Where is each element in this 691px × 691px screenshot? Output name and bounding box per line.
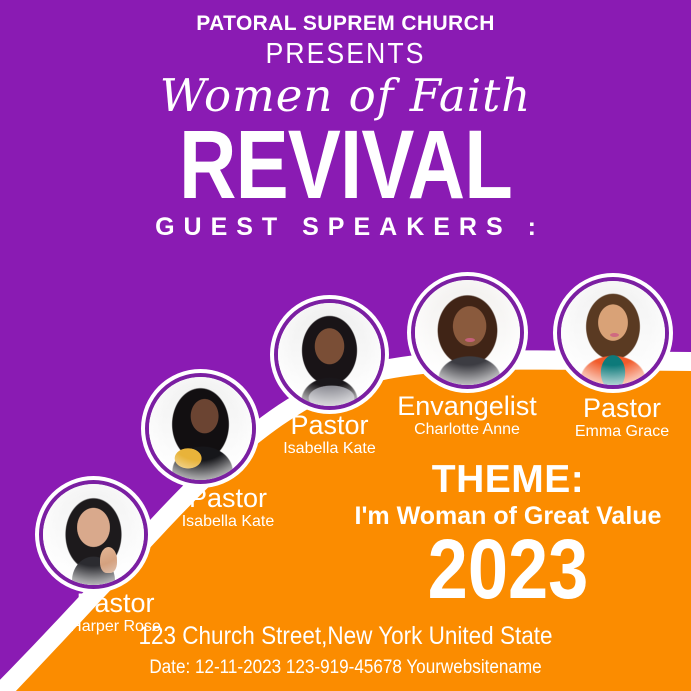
- speaker-name: Isabella Kate: [133, 513, 323, 531]
- theme-block: THEME: I'm Woman of Great Value 2023: [330, 460, 686, 613]
- avatar-charlotte-anne[interactable]: [411, 276, 524, 389]
- avatar-emma-grace[interactable]: [557, 277, 669, 389]
- caption-charlotte-anne: Envangelist Charlotte Anne: [388, 393, 546, 439]
- speaker-role: Envangelist: [388, 393, 546, 421]
- theme-label: THEME:: [330, 460, 686, 499]
- avatar-vignette: [559, 279, 667, 387]
- avatar-vignette: [413, 278, 522, 387]
- caption-isabella-kate-b: Pastor Isabella Kate: [262, 412, 397, 458]
- avatar-isabella-kate-a[interactable]: [145, 373, 256, 484]
- avatar-harper-rose[interactable]: [39, 480, 148, 589]
- avatar-vignette: [41, 482, 146, 587]
- speaker-role: Pastor: [262, 412, 397, 440]
- caption-isabella-kate-a: Pastor Isabella Kate: [133, 485, 323, 531]
- avatar-isabella-kate-b[interactable]: [274, 299, 385, 410]
- event-year: 2023: [355, 527, 661, 613]
- speaker-name: Isabella Kate: [262, 440, 397, 458]
- avatar-vignette: [276, 301, 383, 408]
- speaker-name: Charlotte Anne: [388, 421, 546, 439]
- speaker-role: Pastor: [133, 485, 323, 513]
- footer-block: 123 Church Street,New York United State …: [0, 624, 691, 677]
- event-meta: Date: 12-11-2023 123-919-45678 Yourwebsi…: [35, 658, 657, 677]
- venue-address: 123 Church Street,New York United State: [35, 624, 657, 649]
- avatar-vignette: [147, 375, 254, 482]
- event-flyer: PATORAL SUPREM CHURCH PRESENTS Women of …: [0, 0, 691, 691]
- speaker-name: Emma Grace: [548, 423, 691, 441]
- speaker-role: Pastor: [28, 590, 203, 618]
- caption-emma-grace: Pastor Emma Grace: [548, 395, 691, 441]
- speaker-role: Pastor: [548, 395, 691, 423]
